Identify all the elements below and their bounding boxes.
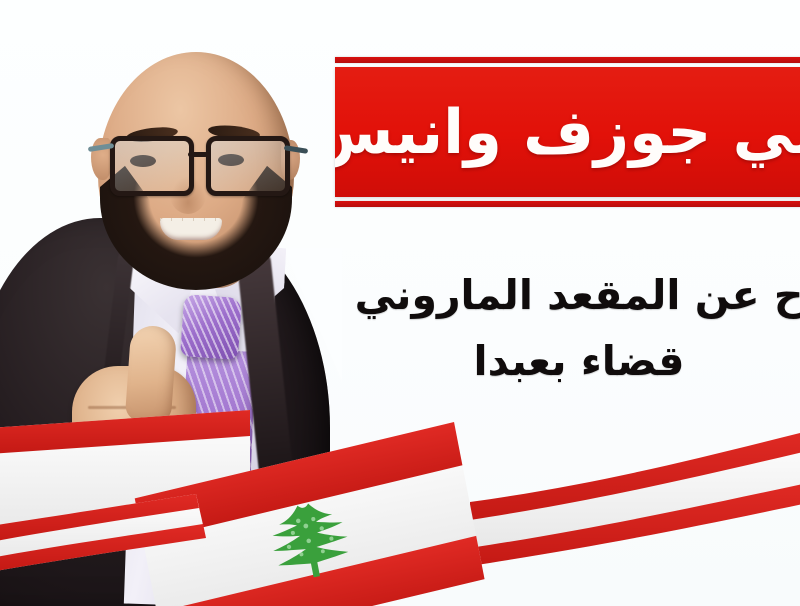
ribbon-right-band [470, 430, 800, 566]
eyeglass-bridge [188, 152, 208, 157]
slogan-line-2: قضاء بعبدا [344, 328, 800, 394]
eyeglass-lens-right [206, 136, 290, 196]
campaign-poster: امي جوزف وانيس ح عن المقعد الماروني قضاء… [0, 0, 800, 606]
eyeglasses-icon [106, 136, 294, 192]
banner-rule-top [335, 57, 800, 63]
slogan-block: ح عن المقعد الماروني قضاء بعبدا [344, 262, 800, 395]
banner-body: امي جوزف وانيس [335, 67, 800, 197]
candidate-name-text: امي جوزف وانيس [335, 102, 800, 163]
eyeglass-lens-left [110, 136, 194, 196]
smiling-mouth [160, 218, 222, 240]
name-banner: امي جوزف وانيس [335, 57, 800, 207]
flag-ribbon-svg [0, 406, 800, 606]
slogan-line-1: ح عن المقعد الماروني [344, 262, 800, 328]
lebanese-flag-ribbon [0, 406, 800, 606]
banner-rule-bottom [335, 201, 800, 207]
